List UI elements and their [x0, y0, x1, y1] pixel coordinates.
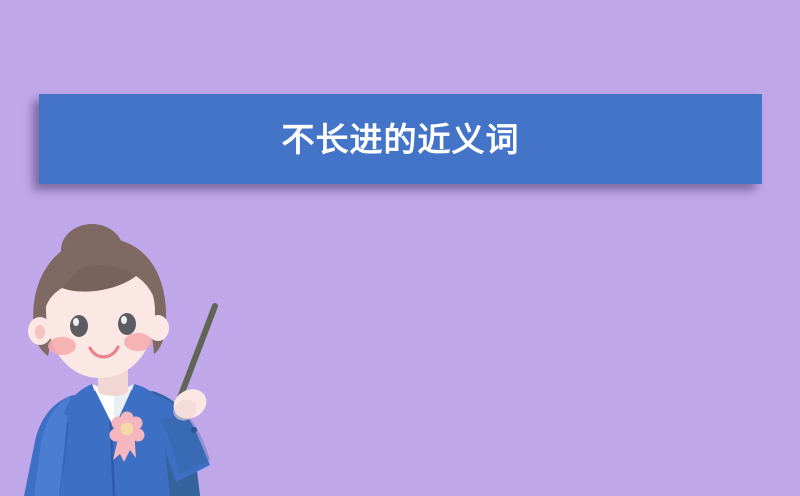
title-banner: 不长进的近义词 [39, 94, 762, 184]
teacher-illustration-svg [10, 218, 260, 496]
pointer-stick-icon [178, 306, 215, 403]
page-root: 不长进的近义词 [0, 0, 800, 496]
teacher-illustration [10, 218, 260, 496]
page-title: 不长进的近义词 [282, 123, 520, 156]
